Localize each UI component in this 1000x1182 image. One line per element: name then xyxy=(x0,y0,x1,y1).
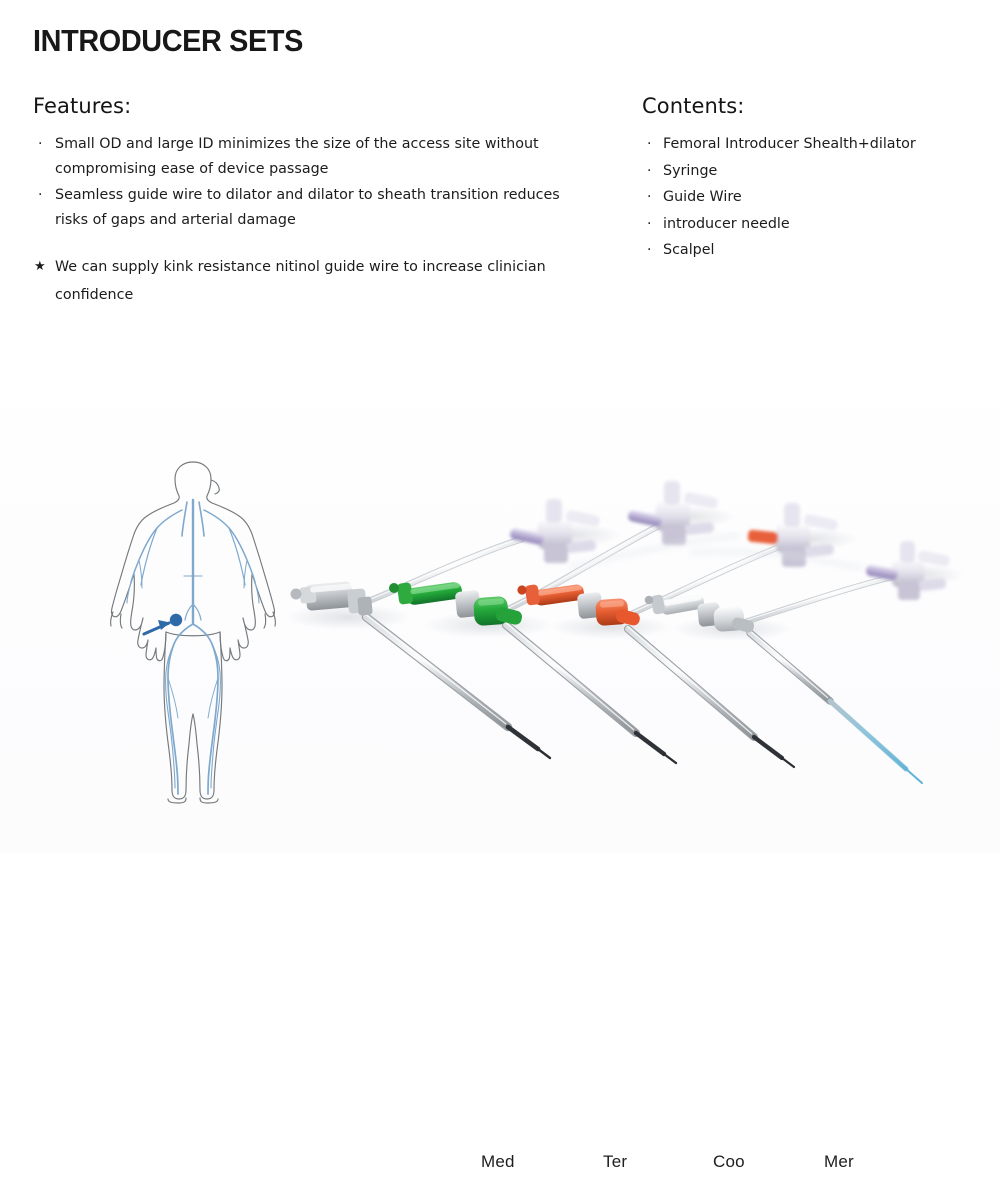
content-text: Scalpel xyxy=(663,242,715,258)
bullet-marker: · xyxy=(647,238,651,263)
features-list: · Small OD and large ID minimizes the si… xyxy=(33,132,593,233)
content-text: introducer needle xyxy=(663,216,790,232)
bullet-marker: · xyxy=(647,212,651,237)
bullet-marker: · xyxy=(647,185,651,210)
product-page: INTRODUCER SETS Features: · Small OD and… xyxy=(0,0,1000,853)
list-item: · Femoral Introducer Shealth+dilator xyxy=(642,132,972,158)
feature-text: Small OD and large ID minimizes the size… xyxy=(55,132,593,182)
contents-heading: Contents: xyxy=(642,95,972,118)
content-text: Femoral Introducer Shealth+dilator xyxy=(663,136,916,152)
bullet-marker: · xyxy=(38,132,42,157)
list-item: · introducer needle xyxy=(642,212,972,238)
introducer-sets-product-photo xyxy=(270,457,1000,817)
product-photo-area: Med Ter Coo Mer xyxy=(0,372,1000,853)
product-label-med: Med xyxy=(481,1152,515,1172)
page-title: INTRODUCER SETS xyxy=(33,23,303,59)
contents-list: · Femoral Introducer Shealth+dilator · S… xyxy=(642,132,972,264)
list-item: · Seamless guide wire to dilator and dil… xyxy=(33,183,593,233)
feature-text: Seamless guide wire to dilator and dilat… xyxy=(55,183,593,233)
list-item: · Scalpel xyxy=(642,238,972,264)
product-label-ter: Ter xyxy=(603,1152,627,1172)
star-icon: ★ xyxy=(34,253,46,281)
list-item: · Guide Wire xyxy=(642,185,972,211)
features-note: ★ We can supply kink resistance nitinol … xyxy=(33,253,593,309)
features-column: Features: · Small OD and large ID minimi… xyxy=(33,95,593,309)
bullet-marker: · xyxy=(38,183,42,208)
product-label-coo: Coo xyxy=(713,1152,745,1172)
features-heading: Features: xyxy=(33,95,593,118)
features-note-text: We can supply kink resistance nitinol gu… xyxy=(55,259,546,303)
product-label-mer: Mer xyxy=(824,1152,854,1172)
content-text: Guide Wire xyxy=(663,189,742,205)
introducer-set-mer xyxy=(645,541,951,783)
product-labels: Med Ter Coo Mer xyxy=(0,1152,1000,1182)
bullet-marker: · xyxy=(647,132,651,157)
list-item: · Small OD and large ID minimizes the si… xyxy=(33,132,593,182)
content-text: Syringe xyxy=(663,163,717,179)
bullet-marker: · xyxy=(647,159,651,184)
contents-column: Contents: · Femoral Introducer Shealth+d… xyxy=(642,95,972,265)
list-item: · Syringe xyxy=(642,159,972,185)
human-body-vascular-diagram xyxy=(108,454,278,804)
femoral-access-marker xyxy=(170,614,182,626)
